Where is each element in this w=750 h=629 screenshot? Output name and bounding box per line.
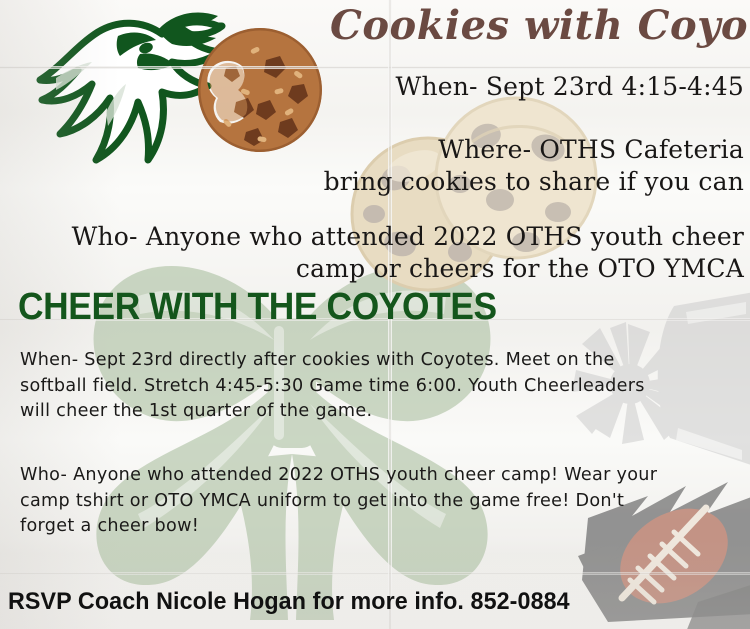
flyer-title: Cookies with Coyotes [330,2,750,49]
event1-when: When- Sept 23rd 4:15-4:45 [0,72,744,101]
event1-where-line2: bring cookies to share if you can [0,167,744,196]
paper-crease-horizontal-top [0,66,750,69]
cheer-headline: CHEER WITH THE COYOTES [18,286,497,329]
flyer-canvas: Cookies with Coyotes When- Sept 23rd 4:1… [0,0,750,629]
rsvp-footer: RSVP Coach Nicole Hogan for more info. 8… [8,588,570,616]
event2-who-paragraph: Who- Anyone who attended 2022 OTHS youth… [20,463,660,540]
paper-crease-horizontal-bottom [0,572,750,575]
event1-who-line2: camp or cheers for the OTO YMCA [0,254,744,283]
event1-where-line1: Where- OTHS Cafeteria [0,135,744,164]
event1-who-line1: Who- Anyone who attended 2022 OTHS youth… [0,222,744,251]
event2-when-paragraph: When- Sept 23rd directly after cookies w… [20,348,660,425]
